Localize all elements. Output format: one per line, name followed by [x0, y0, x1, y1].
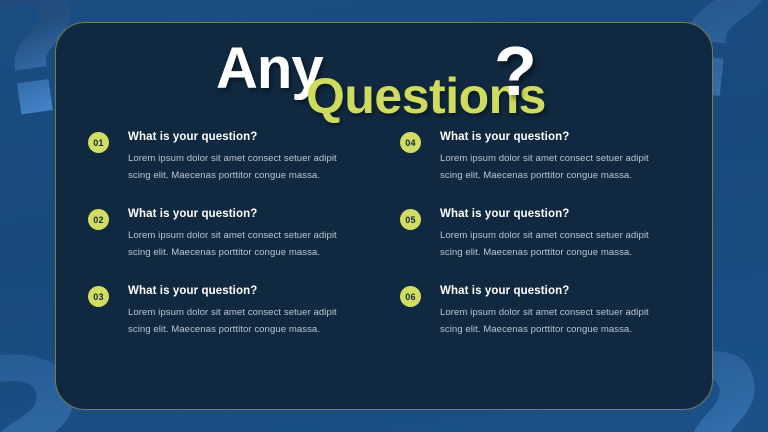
list-item[interactable]: 06 What is your question? Lorem ipsum do… — [400, 285, 686, 338]
item-description: Lorem ipsum dolor sit amet consect setue… — [128, 228, 353, 261]
question-items-grid: 01 What is your question? Lorem ipsum do… — [88, 131, 686, 338]
item-number-badge: 05 — [400, 209, 421, 230]
slide-card: Any Questions ? 01 What is your question… — [55, 22, 713, 410]
item-number-badge: 04 — [400, 132, 421, 153]
item-number-badge: 03 — [88, 286, 109, 307]
list-item[interactable]: 02 What is your question? Lorem ipsum do… — [88, 208, 374, 261]
item-heading: What is your question? — [128, 131, 353, 143]
list-item[interactable]: 01 What is your question? Lorem ipsum do… — [88, 131, 374, 184]
item-heading: What is your question? — [440, 131, 665, 143]
item-number-badge: 02 — [88, 209, 109, 230]
item-description: Lorem ipsum dolor sit amet consect setue… — [128, 151, 353, 184]
list-item[interactable]: 03 What is your question? Lorem ipsum do… — [88, 285, 374, 338]
item-number-badge: 01 — [88, 132, 109, 153]
item-heading: What is your question? — [440, 208, 665, 220]
item-description: Lorem ipsum dolor sit amet consect setue… — [440, 228, 665, 261]
item-heading: What is your question? — [128, 208, 353, 220]
item-description: Lorem ipsum dolor sit amet consect setue… — [440, 151, 665, 184]
item-description: Lorem ipsum dolor sit amet consect setue… — [440, 305, 665, 338]
item-description: Lorem ipsum dolor sit amet consect setue… — [128, 305, 353, 338]
slide-title: Any Questions ? — [56, 23, 712, 131]
item-heading: What is your question? — [440, 285, 665, 297]
title-question-mark-icon: ? — [494, 31, 537, 111]
item-number-badge: 06 — [400, 286, 421, 307]
item-heading: What is your question? — [128, 285, 353, 297]
list-item[interactable]: 04 What is your question? Lorem ipsum do… — [400, 131, 686, 184]
list-item[interactable]: 05 What is your question? Lorem ipsum do… — [400, 208, 686, 261]
